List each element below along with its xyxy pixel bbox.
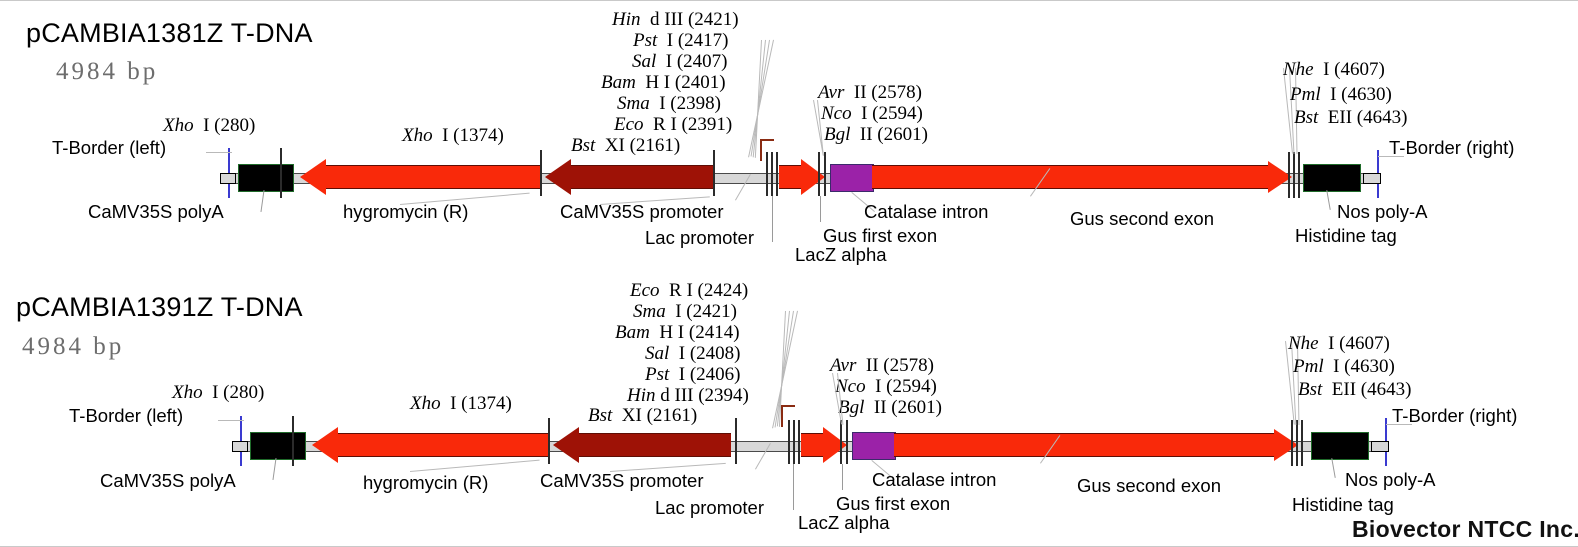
camv35s-polya-leader-2 (272, 458, 276, 480)
site-label-ecori-2391: Eco R I (2391) (614, 115, 732, 134)
site-tick-xho-1374-2 (548, 418, 550, 464)
label-camv35s-promoter: CaMV35S promoter (560, 202, 723, 223)
site-tick-xho-1374 (540, 150, 542, 196)
site-label-pml-i-4630: Pml I (4630) (1290, 85, 1392, 104)
site-label-nhe-i-4607-2: Nhe I (4607) (1288, 334, 1390, 353)
feature-catalase-intron-2 (852, 432, 896, 460)
label-camv35s-polya: CaMV35S polyA (88, 202, 224, 223)
site-label-bst-xi-2161: Bst XI (2161) (571, 136, 680, 155)
site-label-xho-1374: Xho I (1374) (402, 126, 504, 145)
camv35s-polya-leader (260, 190, 264, 212)
site-tick-bst-xi-2161 (713, 150, 715, 196)
feature-gus-second-exon-arrow (872, 161, 1292, 193)
t-border-left-leader (206, 152, 232, 153)
site-label-nco-i-2594: Nco I (2594) (821, 104, 923, 123)
gus-first-exon-leader-2 (842, 464, 843, 490)
mcs-bracket-top (760, 139, 774, 141)
site-label-nhe-i-4607: Nhe I (4607) (1283, 60, 1385, 79)
label-camv35s-polya-2: CaMV35S polyA (100, 471, 236, 492)
label-gus-second-exon-2: Gus second exon (1077, 476, 1221, 497)
label-hygromycin: hygromycin (R) (343, 202, 468, 223)
label-lac-promoter: Lac promoter (645, 228, 754, 249)
feature-hygromycin-arrow-2 (312, 427, 548, 463)
label-nos-polya: Nos poly-A (1337, 202, 1427, 223)
t-border-right-label-2: T-Border (right) (1392, 406, 1517, 427)
site-label-pml-i-4630-2: Pml I (4630) (1293, 357, 1395, 376)
feature-catalase-intron (830, 164, 874, 192)
site-label-bgl-ii-2601-2: Bgl II (2601) (838, 398, 942, 417)
label-catalase-intron: Catalase intron (864, 202, 988, 223)
feature-camv35s-polya (238, 164, 294, 192)
mcs-bracket-side (760, 139, 762, 161)
plasmid-map-panel-1381z: pCAMBIA1381Z T-DNA 4984 bp T-Border (lef… (0, 0, 1578, 273)
site-label-hind-iii-2394: Hin d III (2394) (627, 386, 749, 405)
nos-polya-leader (1326, 190, 1330, 210)
t-border-left-box (220, 173, 236, 184)
site-label-bst-eii-4643: Bst EII (4643) (1294, 108, 1407, 127)
label-histidine-tag-2: Histidine tag (1292, 495, 1394, 516)
site-label-sma-i-2398: Sma I (2398) (617, 94, 721, 113)
site-label-avr-ii-2578: Avr II (2578) (818, 83, 922, 102)
site-label-bst-xi-2161-2: Bst XI (2161) (588, 406, 697, 425)
label-camv35s-promoter-2: CaMV35S promoter (540, 471, 703, 492)
t-border-right-box-2 (1371, 441, 1389, 452)
feature-camv35s-polya-2 (250, 432, 306, 460)
label-gus-second-exon: Gus second exon (1070, 209, 1214, 230)
site-label-bamhi-2401: Bam H I (2401) (601, 73, 726, 92)
label-gus-first-exon: Gus first exon (823, 226, 937, 247)
label-nos-polya-2: Nos poly-A (1345, 470, 1435, 491)
page-title: pCAMBIA1381Z T-DNA (26, 18, 313, 49)
site-label-bst-eii-4643-2: Bst EII (4643) (1298, 380, 1411, 399)
label-catalase-intron-2: Catalase intron (872, 470, 996, 491)
site-label-sal-i-2407: Sal I (2407) (632, 52, 728, 71)
label-lac-promoter-2: Lac promoter (655, 498, 764, 519)
site-label-sma-i-2421: Sma I (2421) (633, 302, 737, 321)
label-lacz-alpha-2: LacZ alpha (798, 513, 890, 534)
site-tick-bst-xi-2161-2 (735, 418, 737, 464)
t-border-left-label: T-Border (left) (52, 138, 166, 159)
mcs-bracket-top-2 (781, 405, 795, 407)
gus-first-exon-leader (820, 196, 821, 222)
t-border-left-label-2: T-Border (left) (69, 406, 183, 427)
site-label-pst-i-2406: Pst I (2406) (645, 365, 741, 384)
site-tick-xho-280 (280, 148, 282, 198)
nos-polya-leader-2 (1331, 458, 1335, 478)
feature-camv35s-promoter-arrow (545, 159, 713, 195)
watermark: Biovector NTCC Inc. (1352, 516, 1578, 543)
site-label-pst-i-2417: Pst I (2417) (633, 31, 729, 50)
feature-hygromycin-arrow (300, 159, 540, 195)
site-label-avr-ii-2578-2: Avr II (2578) (830, 356, 934, 375)
site-label-xho-280-2: Xho I (280) (172, 383, 264, 402)
plasmid-size-label-2: 4984 bp (22, 333, 124, 361)
site-label-hind-iii-2421: Hin d III (2421) (612, 10, 739, 29)
site-label-bamhi-2414: Bam H I (2414) (615, 323, 740, 342)
plasmid-map-panel-1391z: pCAMBIA1391Z T-DNA 4984 bp T-Border (lef… (0, 273, 1578, 546)
label-gus-first-exon-2: Gus first exon (836, 494, 950, 515)
site-label-xho-1374-2: Xho I (1374) (410, 394, 512, 413)
feature-nos-polya-2 (1311, 432, 1369, 460)
site-tick-xho-280-2 (292, 416, 294, 466)
feature-nos-polya (1303, 164, 1361, 192)
label-histidine-tag: Histidine tag (1295, 226, 1397, 247)
t-border-left-box-2 (232, 441, 248, 452)
t-border-left-leader-2 (218, 420, 244, 421)
feature-gus-second-exon-arrow-2 (894, 429, 1298, 461)
site-label-sal-i-2408: Sal I (2408) (645, 344, 741, 363)
mcs-bracket-side-2 (781, 405, 783, 427)
t-border-right-label: T-Border (right) (1389, 138, 1514, 159)
site-label-ecori-2424: Eco R I (2424) (630, 281, 748, 300)
site-label-xho-280: Xho I (280) (163, 116, 255, 135)
feature-camv35s-promoter-arrow-2 (553, 427, 731, 463)
lacz-alpha-leader-2 (793, 464, 794, 510)
lacz-alpha-leader (772, 196, 773, 242)
label-hygromycin-2: hygromycin (R) (363, 473, 488, 494)
site-label-bgl-ii-2601: Bgl II (2601) (824, 125, 928, 144)
label-lacz-alpha: LacZ alpha (795, 245, 887, 266)
plasmid-size-label: 4984 bp (56, 58, 158, 86)
t-border-right-box (1363, 173, 1381, 184)
page-title-2: pCAMBIA1391Z T-DNA (16, 292, 303, 323)
site-label-nco-i-2594-2: Nco I (2594) (835, 377, 937, 396)
